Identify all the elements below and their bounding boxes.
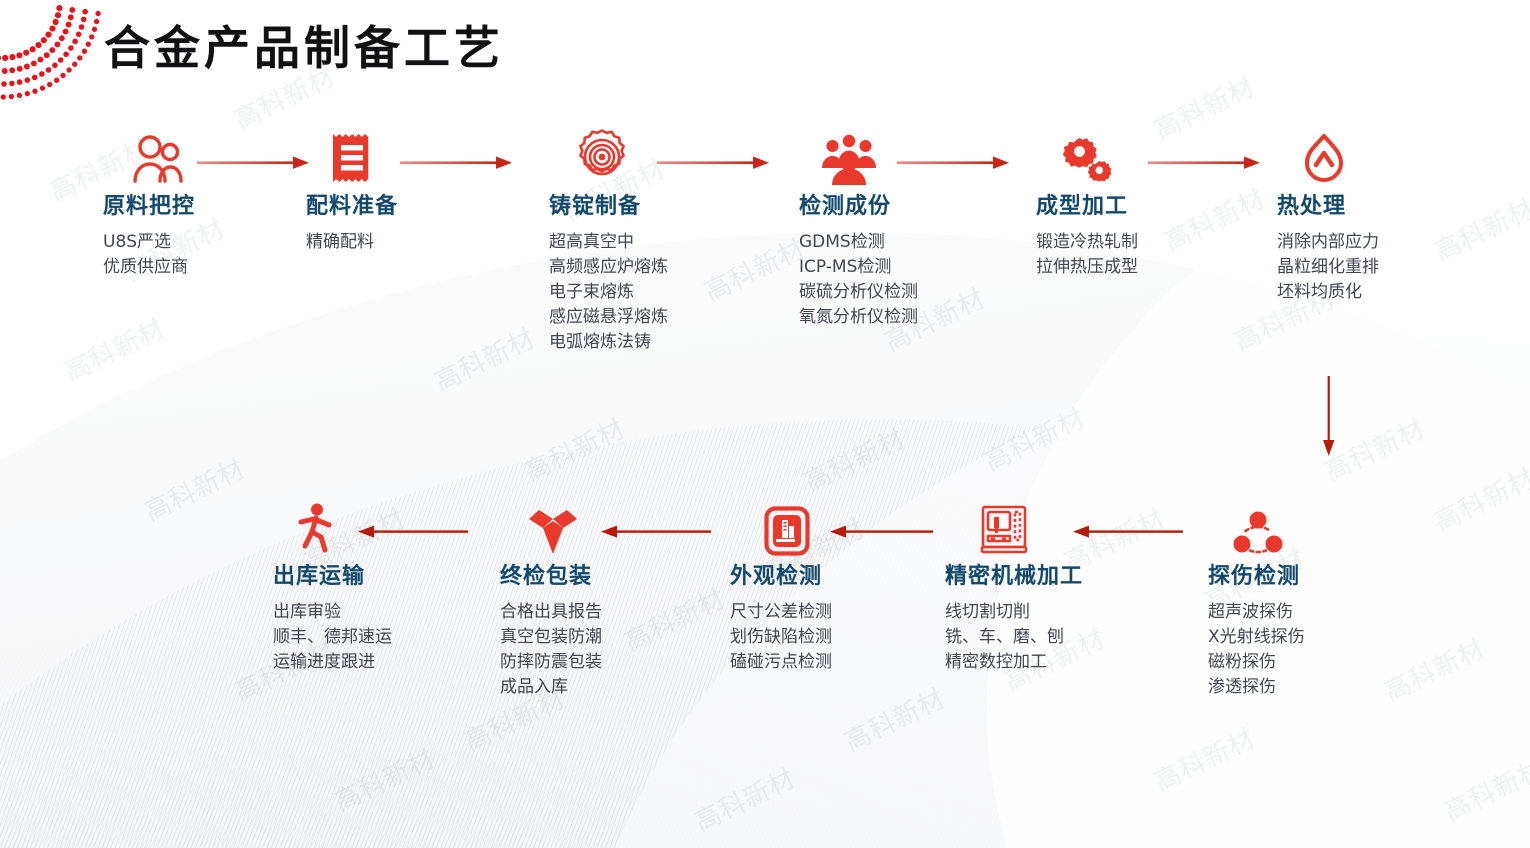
step-detail-lines: 尺寸公差检测划伤缺陷检测磕碰污点检测	[730, 600, 832, 675]
watermark: 高科新材	[977, 398, 1090, 479]
step-detail-line: 电弧熔炼法铸	[549, 330, 668, 355]
step-detail-line: 氧氮分析仪检测	[799, 305, 918, 330]
watermark: 高科新材	[1437, 748, 1530, 829]
step-title: 探伤检测	[1208, 562, 1305, 592]
background-swoosh-d	[818, 0, 1530, 848]
watermark: 高科新材	[57, 308, 170, 389]
step-detail-lines: 出库审验顺丰、德邦速运运输进度跟进	[273, 600, 392, 675]
step-detail-line: 晶粒细化重排	[1277, 255, 1379, 280]
step-title: 铸锭制备	[549, 192, 668, 222]
step-detail-line: 出库审验	[273, 600, 392, 625]
step-detail-lines: 精确配料	[306, 230, 398, 255]
flame-icon	[1300, 128, 1379, 186]
step-detail-line: 尺寸公差检测	[730, 600, 832, 625]
receipt-icon	[327, 128, 398, 186]
step-detail-line: 磁粉探伤	[1208, 650, 1305, 675]
step-detail-line: 优质供应商	[103, 255, 195, 280]
step-detail-line: 防摔防震包装	[500, 650, 602, 675]
step-precision-machining[interactable]: 精密机械加工线切割切削铣、车、磨、刨精密数控加工	[945, 498, 1083, 675]
flow-arrow-right	[657, 155, 769, 171]
watermark: 高科新材	[837, 678, 950, 759]
cnc-machine-icon	[978, 498, 1083, 556]
step-detail-line: 高频感应炉熔炼	[549, 255, 668, 280]
step-title: 原料把控	[103, 192, 195, 222]
flow-arrow-left	[1073, 524, 1183, 540]
step-final-inspection-packaging[interactable]: 终检包装合格出具报告真空包装防潮防摔防震包装成品入库	[500, 498, 602, 700]
watermark: 高科新材	[1427, 458, 1530, 539]
step-detail-line: 磕碰污点检测	[730, 650, 832, 675]
flow-arrow-right	[1148, 155, 1260, 171]
step-heat-treatment[interactable]: 热处理消除内部应力晶粒细化重排坯料均质化	[1277, 128, 1379, 305]
watermark: 高科新材	[427, 318, 540, 399]
step-title: 外观检测	[730, 562, 832, 592]
step-ingot-preparation[interactable]: 铸锭制备超高真空中高频感应炉熔炼电子束熔炼感应磁悬浮熔炼电弧熔炼法铸	[549, 128, 668, 355]
step-forming-processing[interactable]: 成型加工锻造冷热轧制拉伸热压成型	[1036, 128, 1138, 280]
step-detail-line: 划伤缺陷检测	[730, 625, 832, 650]
step-detail-line: 精确配料	[306, 230, 398, 255]
step-detail-line: 合格出具报告	[500, 600, 602, 625]
step-detail-line: 碳硫分析仪检测	[799, 280, 918, 305]
step-detail-line: 锻造冷热轧制	[1036, 230, 1138, 255]
step-title: 配料准备	[306, 192, 398, 222]
step-detail-line: GDMS检测	[799, 230, 918, 255]
double-gear-icon	[1060, 128, 1138, 186]
dotted-arc-decoration	[0, 0, 118, 106]
step-detail-lines: 合格出具报告真空包装防潮防摔防震包装成品入库	[500, 600, 602, 700]
step-title: 终检包装	[500, 562, 602, 592]
step-appearance-inspection[interactable]: 外观检测尺寸公差检测划伤缺陷检测磕碰污点检测	[730, 498, 832, 675]
people-icon	[130, 128, 195, 186]
step-detail-line: 铣、车、磨、刨	[945, 625, 1083, 650]
step-detail-line: 超高真空中	[549, 230, 668, 255]
process-flow-slide: 高科新材高科新材高科新材高科新材高科新材高科新材高科新材高科新材高科新材高科新材…	[0, 0, 1530, 848]
flow-arrow-down	[1320, 376, 1338, 458]
watermark: 高科新材	[1377, 628, 1490, 709]
step-detail-line: 线切割切削	[945, 600, 1083, 625]
three-circles-icon	[1233, 498, 1305, 556]
step-title: 热处理	[1277, 192, 1379, 222]
watermark: 高科新材	[1147, 66, 1260, 147]
step-detail-line: 运输进度跟进	[273, 650, 392, 675]
flow-arrow-left	[830, 524, 933, 540]
watermark: 高科新材	[327, 738, 440, 819]
step-detail-line: 感应磁悬浮熔炼	[549, 305, 668, 330]
flow-arrow-right	[897, 155, 1009, 171]
step-batching-preparation[interactable]: 配料准备精确配料	[306, 128, 398, 255]
watermark: 高科新材	[1427, 188, 1530, 269]
step-title: 精密机械加工	[945, 562, 1083, 592]
watermark: 高科新材	[137, 448, 250, 529]
watermark: 高科新材	[517, 408, 630, 489]
gear-target-icon	[573, 128, 668, 186]
step-detail-line: 超声波探伤	[1208, 600, 1305, 625]
step-detail-lines: 线切割切削铣、车、磨、刨精密数控加工	[945, 600, 1083, 675]
step-detail-line: 电子束熔炼	[549, 280, 668, 305]
factory-badge-icon	[764, 498, 832, 556]
flow-arrow-left	[601, 524, 711, 540]
step-detail-lines: 超高真空中高频感应炉熔炼电子束熔炼感应磁悬浮熔炼电弧熔炼法铸	[549, 230, 668, 355]
step-detail-line: X光射线探伤	[1208, 625, 1305, 650]
step-detail-line: 拉伸热压成型	[1036, 255, 1138, 280]
step-detail-line: 精密数控加工	[945, 650, 1083, 675]
open-box-icon	[527, 498, 602, 556]
step-detail-lines: U8S严选优质供应商	[103, 230, 195, 280]
watermark: 高科新材	[687, 758, 800, 839]
step-detail-lines: 超声波探伤X光射线探伤磁粉探伤渗透探伤	[1208, 600, 1305, 700]
page-title: 合金产品制备工艺	[104, 12, 504, 78]
step-title: 出库运输	[273, 562, 392, 592]
step-detail-lines: 锻造冷热轧制拉伸热压成型	[1036, 230, 1138, 280]
flow-arrow-right	[197, 155, 309, 171]
step-detail-lines: 消除内部应力晶粒细化重排坯料均质化	[1277, 230, 1379, 305]
step-raw-material-control[interactable]: 原料把控U8S严选优质供应商	[103, 128, 195, 280]
step-title: 检测成份	[799, 192, 918, 222]
step-detail-line: 成品入库	[500, 675, 602, 700]
watermark: 高科新材	[797, 418, 910, 499]
flow-arrow-right	[400, 155, 512, 171]
step-flaw-detection[interactable]: 探伤检测超声波探伤X光射线探伤磁粉探伤渗透探伤	[1208, 498, 1305, 700]
watermark: 高科新材	[617, 578, 730, 659]
step-detail-line: ICP-MS检测	[799, 255, 918, 280]
watermark: 高科新材	[697, 228, 810, 309]
step-detail-line: 消除内部应力	[1277, 230, 1379, 255]
step-detail-lines: GDMS检测ICP-MS检测碳硫分析仪检测氧氮分析仪检测	[799, 230, 918, 330]
step-title: 成型加工	[1036, 192, 1138, 222]
watermark: 高科新材	[1157, 178, 1270, 259]
step-detail-line: 渗透探伤	[1208, 675, 1305, 700]
step-detail-line: 顺丰、德邦速运	[273, 625, 392, 650]
watermark: 高科新材	[1147, 718, 1260, 799]
step-detail-line: 坯料均质化	[1277, 280, 1379, 305]
step-detail-line: U8S严选	[103, 230, 195, 255]
flow-arrow-left	[358, 524, 468, 540]
step-detail-line: 真空包装防潮	[500, 625, 602, 650]
